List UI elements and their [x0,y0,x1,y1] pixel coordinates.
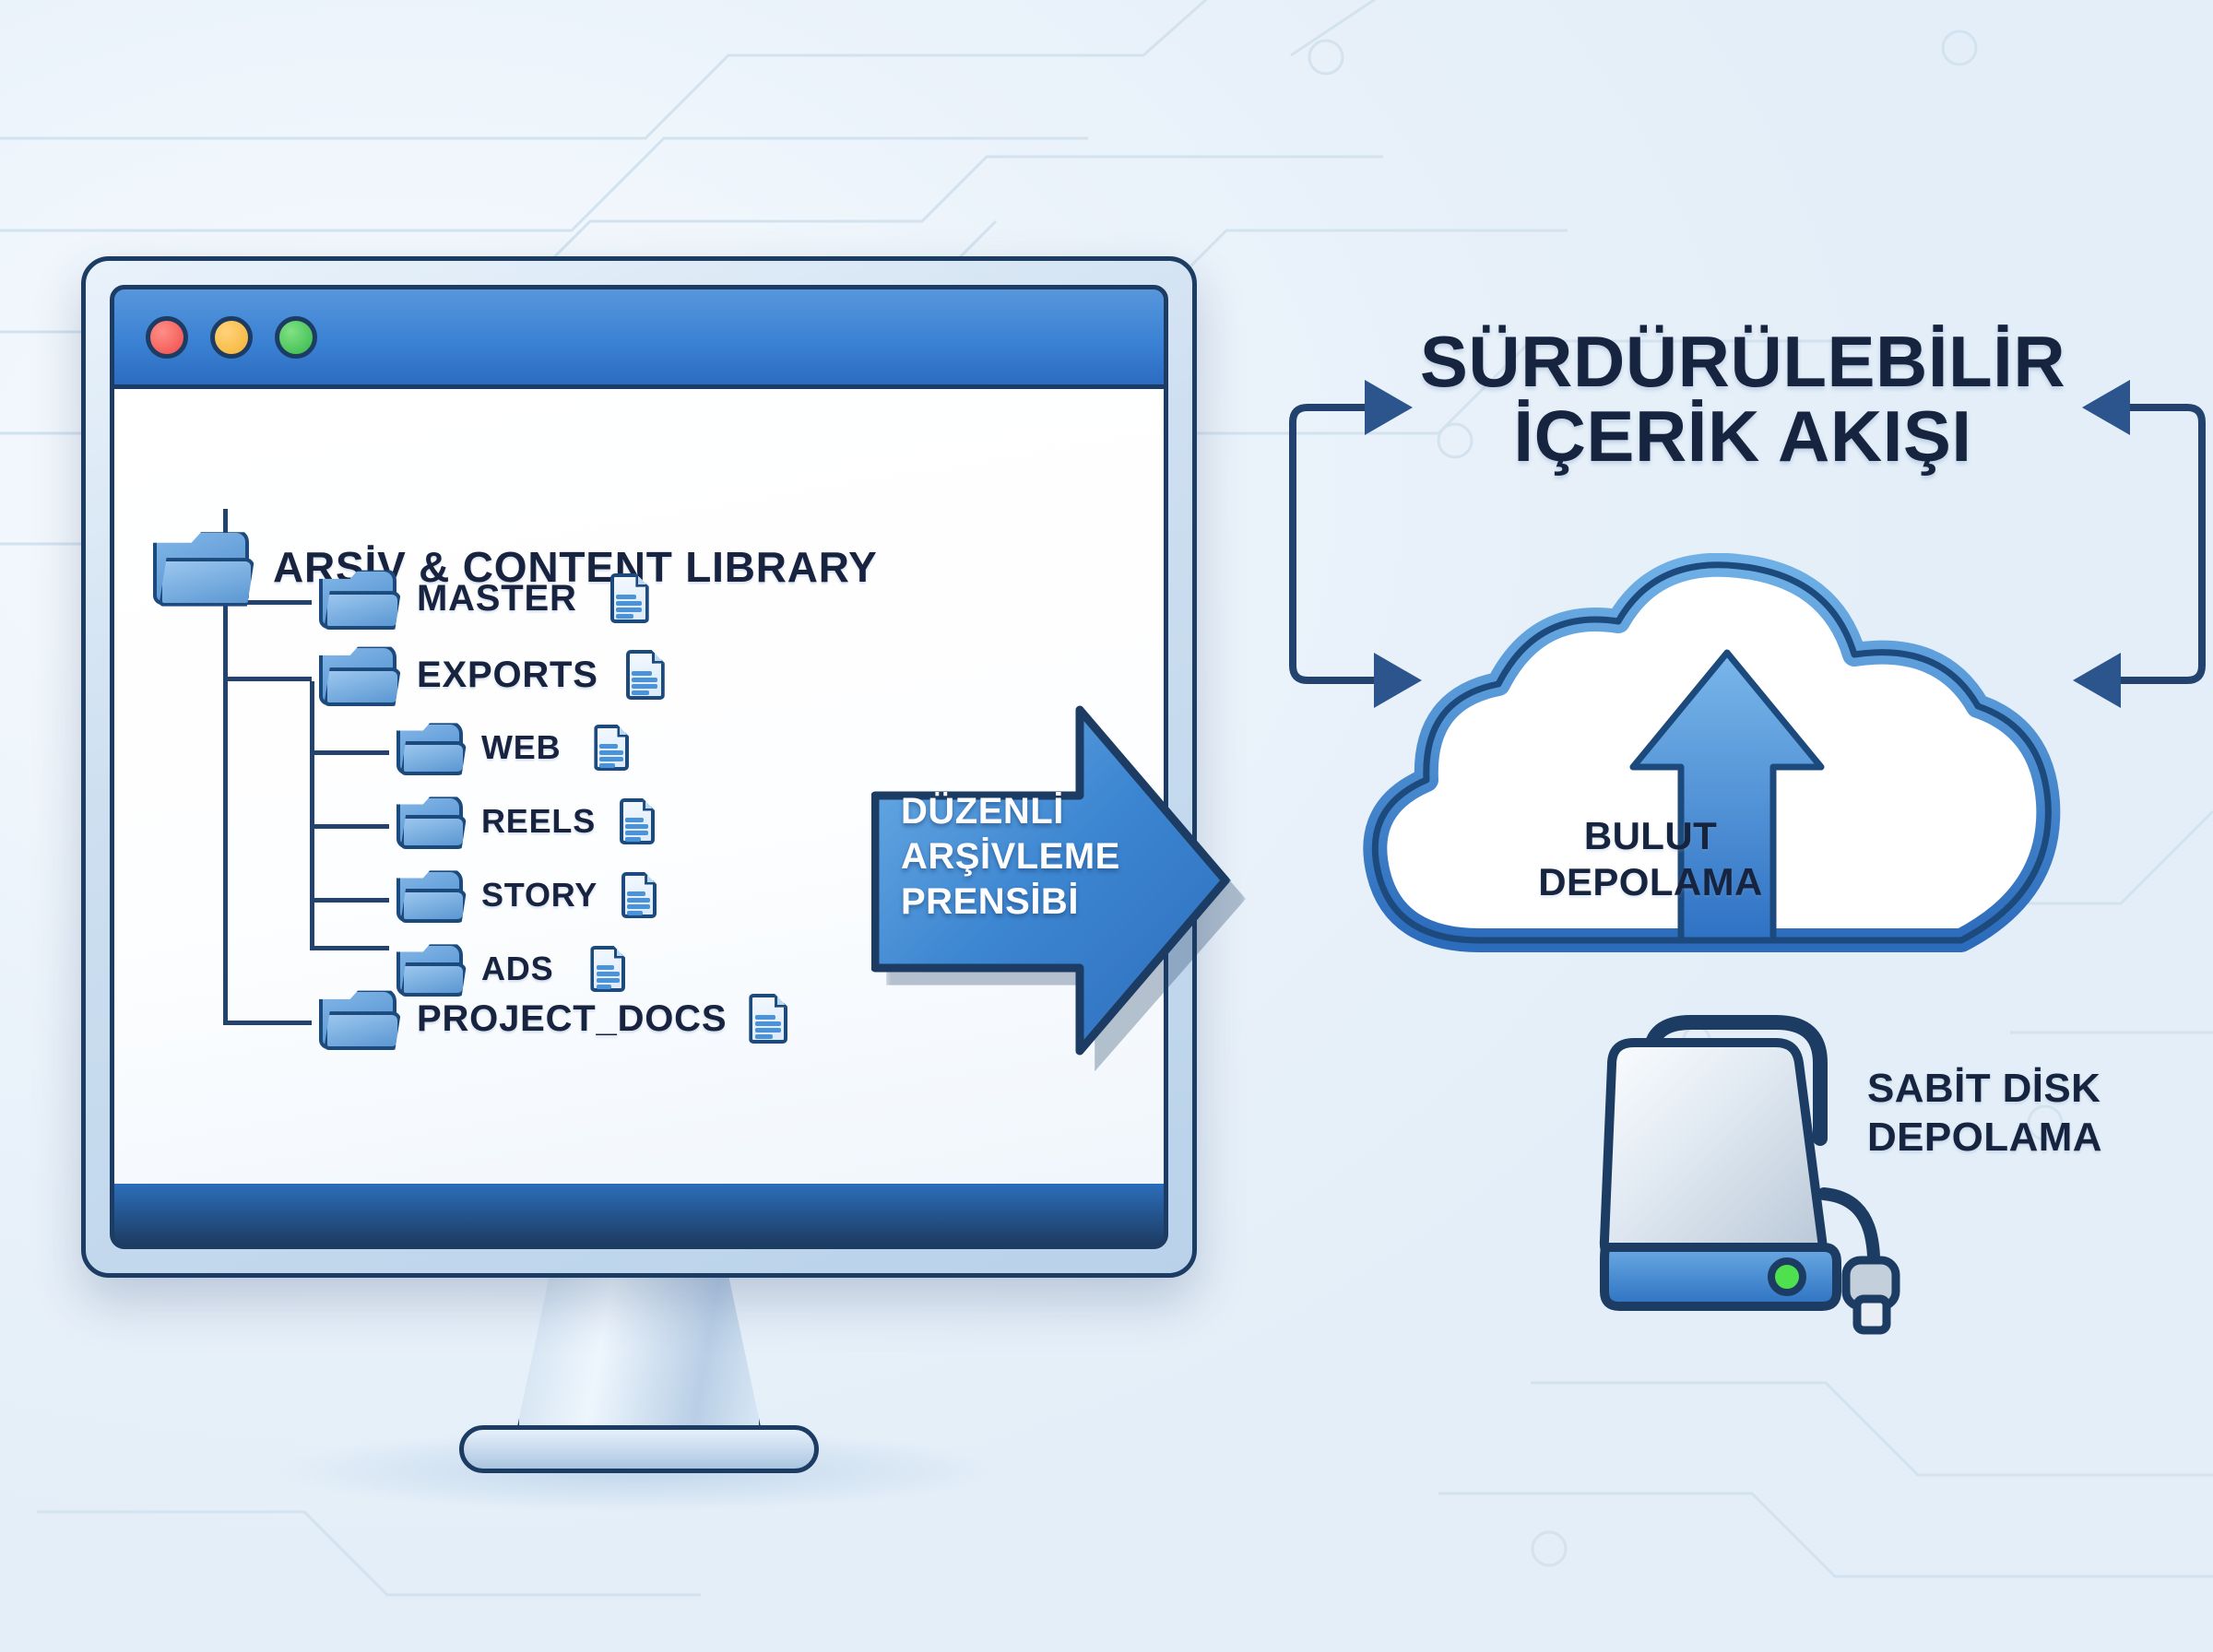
monitor-stand-base [459,1425,819,1473]
arrow-caption: DÜZENLİ ARŞİVLEME PRENSİBİ [901,789,1130,926]
cloud-label-line2: DEPOLAMA [1498,859,1803,905]
tree-label-project-docs: PROJECT_DOCS [417,998,727,1040]
hard-drive-label-line1: SABİT DİSK [1867,1065,2213,1114]
folder-icon [396,721,463,774]
file-icon [610,573,649,623]
hard-drive-label-line2: DEPOLAMA [1867,1114,2213,1162]
tree-branch-line [310,750,389,755]
tree-row-web[interactable]: WEB [396,721,629,774]
tree-row-master[interactable]: MASTER [319,568,649,629]
cloud-label: BULUT DEPOLAMA [1498,813,1803,904]
folder-icon [319,644,396,705]
tree-label-reels: REELS [481,802,596,841]
file-icon [620,798,655,844]
upload-arrow-icon [1342,553,2079,996]
maximize-button[interactable] [275,316,317,359]
tree-branch-line [310,946,389,950]
power-led-icon [1771,1261,1803,1292]
tree-branch-line [310,824,389,829]
tree-subtrunk-line [310,681,314,949]
folder-icon [319,568,396,629]
tree-branch-line [223,1021,312,1025]
tree-label-exports: EXPORTS [417,655,598,696]
tree-label-master: MASTER [417,578,577,619]
external-hard-drive-icon [1595,1009,1982,1341]
window-titlebar [114,289,1164,389]
arrow-caption-line2: ARŞİVLEME [901,834,1130,879]
file-icon [594,725,629,771]
minimize-button[interactable] [210,316,253,359]
folder-icon [396,795,463,848]
close-button[interactable] [146,316,188,359]
tree-row-project-docs[interactable]: PROJECT_DOCS [319,988,787,1049]
tree-branch-line [310,898,389,903]
hard-drive-label: SABİT DİSK DEPOLAMA [1867,1065,2213,1162]
arrow-caption-line1: DÜZENLİ [901,789,1130,834]
file-icon [590,946,625,992]
cloud-storage-illustration: BULUT DEPOLAMA [1342,553,2079,996]
tree-label-ads: ADS [481,950,553,988]
file-icon [626,650,665,700]
cloud-label-line1: BULUT [1498,813,1803,859]
infographic-canvas: ARŞİV & CONTENT LIBRARY MASTER [0,0,2213,1652]
folder-icon [153,529,249,605]
tree-row-story[interactable]: STORY [396,868,657,922]
tree-label-story: STORY [481,876,598,914]
monitor-stand-neck [515,1276,763,1440]
file-icon [749,994,787,1044]
tree-label-web: WEB [481,728,561,767]
arrow-caption-line3: PRENSİBİ [901,879,1130,925]
tree-branch-line [223,677,312,681]
file-icon [621,872,657,918]
tree-row-reels[interactable]: REELS [396,795,655,848]
tree-row-exports[interactable]: EXPORTS [319,644,665,705]
right-arrow-icon: DÜZENLİ ARŞİVLEME PRENSİBİ [871,701,1231,1060]
folder-icon [319,988,396,1049]
folder-icon [396,868,463,922]
